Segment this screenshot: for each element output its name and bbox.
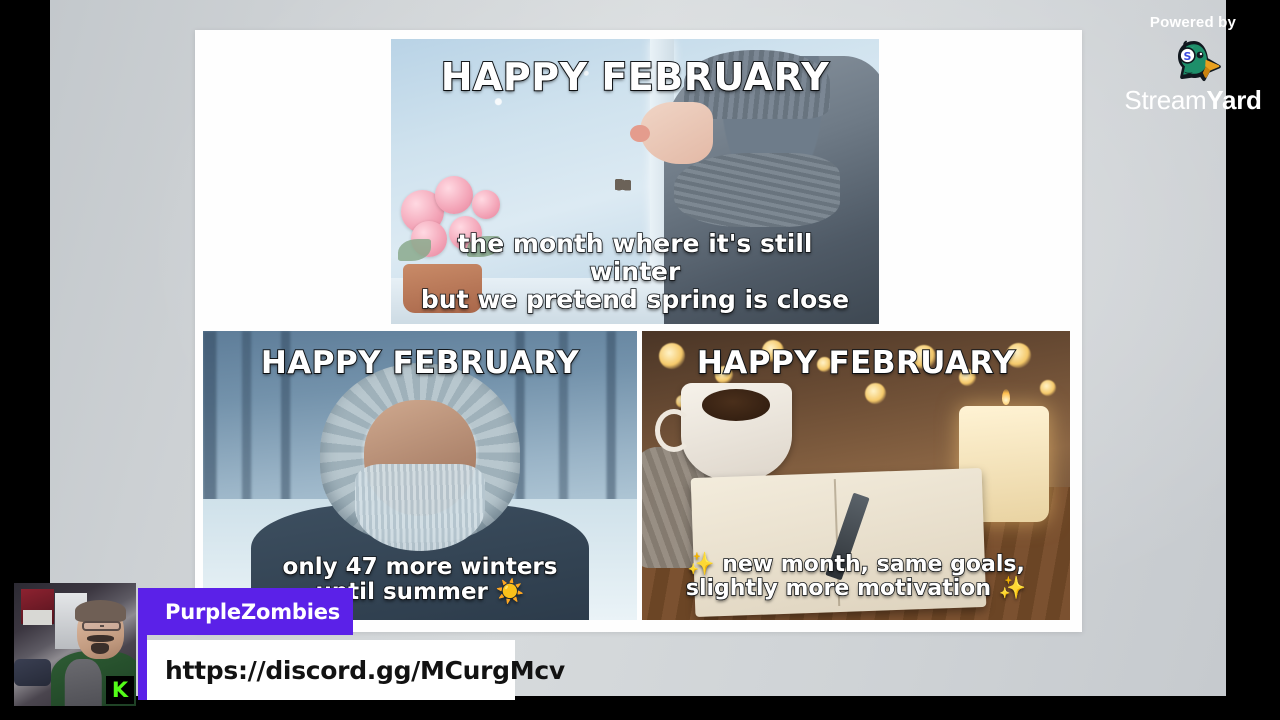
streamer-name-banner: PurpleZombies (138, 588, 353, 635)
meme-card-bottom-right: HAPPY FEBRUARY ✨ new month, same goals, … (642, 331, 1070, 620)
meme-caption-line1: the month where it's still winter (411, 230, 860, 286)
stream-canvas: HAPPY FEBRUARY the month where it's stil… (0, 0, 1280, 720)
meme-card-top: HAPPY FEBRUARY the month where it's stil… (391, 39, 879, 324)
streamer-hair-decor (75, 600, 126, 622)
glasses-decor (82, 621, 121, 631)
meme-caption: ✨ new month, same goals, slightly more m… (659, 553, 1053, 602)
webcam-tile[interactable]: K (14, 583, 136, 706)
meme-caption: the month where it's still winter but we… (411, 230, 860, 314)
mustache-decor (87, 635, 114, 642)
discord-link-text[interactable]: https://discord.gg/MCurgMcv (145, 656, 565, 685)
meme-caption-line1: ✨ new month, same goals, (659, 553, 1053, 578)
streamer-name: PurpleZombies (138, 600, 340, 624)
meme-title: HAPPY FEBRUARY (391, 55, 879, 99)
child-nose-decor (630, 125, 650, 142)
frozen-beard-decor (355, 464, 485, 551)
scarf-decor (674, 153, 840, 227)
kick-logo-letter: K (112, 680, 128, 701)
meme-caption-line2: slightly more motivation ✨ (659, 577, 1053, 602)
meme-caption-line1: only 47 more winters (229, 555, 611, 581)
coffee-surface-decor (702, 389, 770, 421)
discord-link-banner[interactable]: https://discord.gg/MCurgMcv (145, 640, 515, 700)
chair-arm-decor (14, 659, 51, 686)
lower-third-spine (138, 588, 147, 700)
candle-flame-decor (1002, 389, 1010, 405)
wall-paper-decor (23, 610, 52, 625)
meme-title: HAPPY FEBRUARY (203, 345, 637, 381)
streamer-shirt-decor (65, 659, 102, 706)
meme-caption-line2: but we pretend spring is close (411, 286, 860, 314)
meme-card-bottom-left: HAPPY FEBRUARY only 47 more winters unti… (203, 331, 637, 620)
meme-title: HAPPY FEBRUARY (642, 345, 1070, 381)
kick-logo-icon: K (106, 676, 134, 704)
butterfly-icon (615, 179, 631, 193)
